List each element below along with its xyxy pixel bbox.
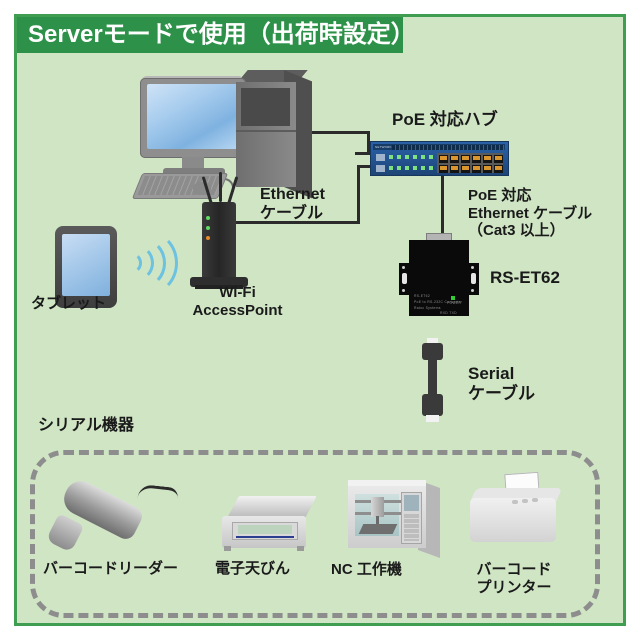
converter-brand-text: Ratoc Systems (414, 306, 441, 311)
tablet-label: タブレット (31, 295, 106, 313)
cable-hub-to-converter (441, 176, 444, 234)
title-bar: Serverモードで使用（出荷時設定） (17, 17, 403, 53)
page-title: Serverモードで使用（出荷時設定） (28, 23, 415, 47)
cable-ap-to-hub-vertical (357, 166, 360, 224)
poe-ethernet-cable-label: PoE 対応 Ethernet ケーブル （Cat3 以上） (468, 187, 592, 240)
serial-device-label-1: 電子天びん (215, 560, 290, 578)
cable-hub-left-stub-lower (357, 165, 371, 168)
access-point-label: Wi-Fi AccessPoint (180, 284, 295, 319)
converter-power-label: POWER (447, 301, 461, 306)
ethernet-cable-label: Ethernet ケーブル (260, 186, 325, 224)
serial-device-label-2: NC 工作機 (331, 561, 402, 579)
serial-devices-group-label: シリアル機器 (38, 417, 134, 436)
serial-device-label-0: バーコードリーダー (43, 560, 178, 578)
converter-port-labels: RXD TXD (440, 311, 457, 316)
serial-device-label-3: バーコード プリンター (464, 561, 564, 596)
serial-cable-label: Serial ケーブル (468, 364, 535, 404)
poe-hub-label: PoE 対応ハブ (392, 110, 498, 130)
diagram-canvas: Serverモードで使用（出荷時設定） タブレット (0, 0, 640, 640)
hub-top-label: NETWORK (375, 145, 392, 149)
converter-label: RS-ET62 (490, 268, 560, 288)
converter-model-text: RS-ET62 (414, 294, 430, 299)
cable-hub-left-stub-upper (355, 152, 371, 155)
